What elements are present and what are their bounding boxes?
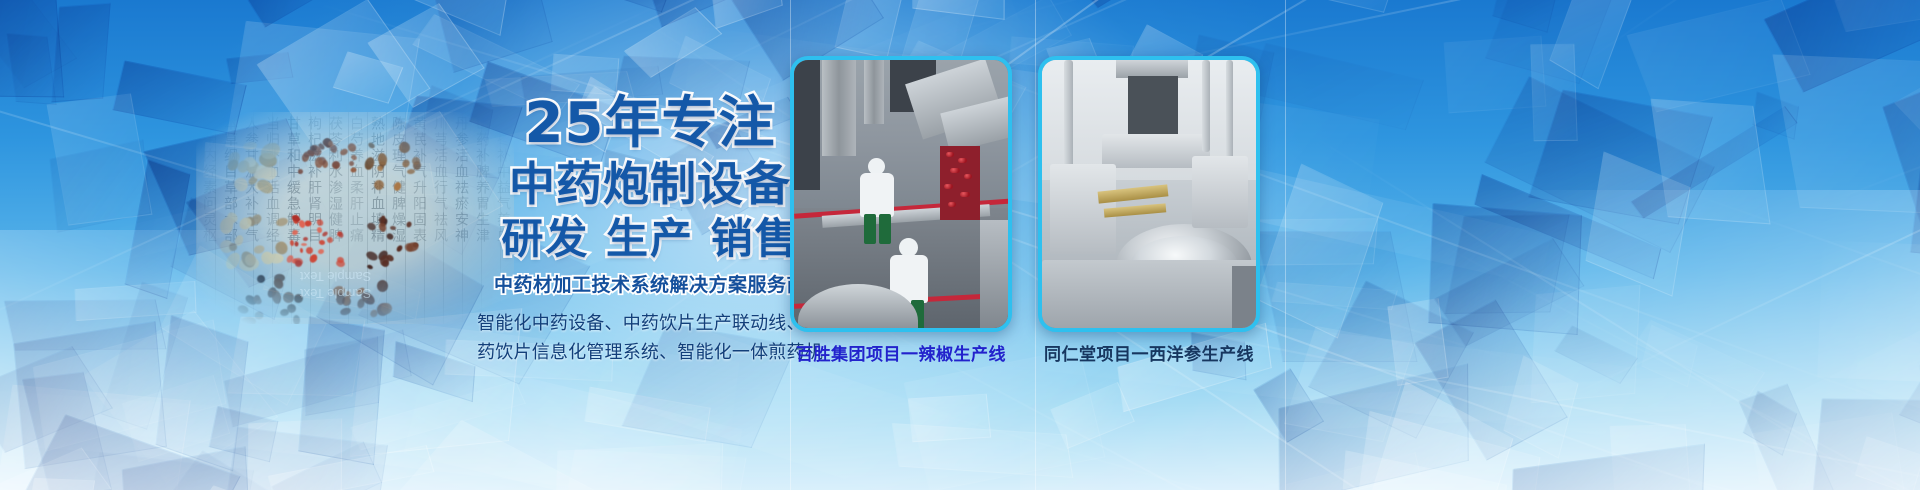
project-photo-cards: 百胜集团项目一辣椒生产线 xyxy=(790,56,1260,356)
herb-piece xyxy=(291,229,298,236)
herb-piece xyxy=(298,169,304,175)
herb-piece xyxy=(242,141,257,151)
project-photo-chili[interactable] xyxy=(790,56,1012,332)
herb-piece xyxy=(339,307,352,317)
project-card-ginseng[interactable]: 同仁堂项目一西洋参生产线 xyxy=(1038,56,1260,332)
ginseng-production-line-image xyxy=(1042,60,1256,328)
herb-piece xyxy=(268,253,283,263)
herb-piece xyxy=(406,241,420,252)
headline-line-1: 25年专注 xyxy=(470,96,830,152)
herb-piece xyxy=(317,248,324,254)
herb-piece xyxy=(271,289,283,305)
herb-piece xyxy=(308,253,319,264)
herb-piece xyxy=(279,308,289,317)
herb-piece xyxy=(326,236,334,244)
herb-piece xyxy=(373,179,385,191)
herb-piece xyxy=(304,220,312,227)
herb-piece xyxy=(290,240,295,247)
herb-piece xyxy=(319,239,326,245)
project-card-chili[interactable]: 百胜集团项目一辣椒生产线 xyxy=(790,56,1012,332)
herb-piece xyxy=(237,304,250,315)
herb-piece xyxy=(363,156,376,171)
herb-piece xyxy=(294,241,298,246)
watermark-line-1: Sample Text xyxy=(300,285,371,302)
project-photo-ginseng[interactable] xyxy=(1038,56,1260,332)
herb-piece xyxy=(275,217,289,228)
herb-piece xyxy=(231,175,250,194)
herb-piece xyxy=(348,160,354,166)
herb-piece xyxy=(395,244,403,253)
vertical-divider xyxy=(1285,0,1286,490)
headline-subtitle: 中药材加工技术系统解决方案服务商 xyxy=(470,270,830,297)
herb-piece xyxy=(377,280,388,292)
herb-piece xyxy=(366,221,377,231)
herb-piece xyxy=(293,315,301,326)
herb-piece xyxy=(301,243,307,246)
herb-piece xyxy=(350,167,357,173)
headline-line-2: 中药炮制设备 xyxy=(470,161,830,207)
herb-piece xyxy=(336,230,344,239)
herb-piece xyxy=(367,141,376,149)
headline-block: 25年专注 中药炮制设备 研发 生产 销售 中药材加工技术系统解决方案服务商 智… xyxy=(470,96,830,367)
watermark-line-2: Sample Text xyxy=(300,268,371,285)
herb-piece xyxy=(331,160,340,169)
herb-piece xyxy=(321,231,328,238)
herb-piece xyxy=(303,237,309,242)
herb-piece xyxy=(385,232,394,241)
project-card-ginseng-caption: 同仁堂项目一西洋参生产线 xyxy=(1016,340,1282,365)
herb-piece xyxy=(335,259,345,268)
hero-banner: 黄帝内经素问灵枢本草纲目草部木部人参甘温大补元气当归补血活血调经甘草和中缓急解毒… xyxy=(0,0,1920,490)
chili-production-line-image xyxy=(794,60,1008,328)
herb-piece xyxy=(257,275,266,284)
headline-line-3: 研发 生产 销售 xyxy=(470,218,830,260)
herb-piece xyxy=(315,218,324,227)
herb-piece xyxy=(393,181,403,192)
project-card-chili-caption: 百胜集团项目一辣椒生产线 xyxy=(768,340,1034,365)
herb-piece xyxy=(401,158,411,168)
herb-piece xyxy=(390,226,396,231)
headline-paragraph-line-1: 智能化中药设备、中药饮片生产联动线、中 xyxy=(470,309,830,338)
watermark-text: Sample Text Sample Text xyxy=(300,268,371,302)
herb-piece xyxy=(315,157,323,168)
herb-piece xyxy=(398,141,410,153)
herb-piece xyxy=(405,221,412,229)
herb-piece xyxy=(300,248,304,253)
